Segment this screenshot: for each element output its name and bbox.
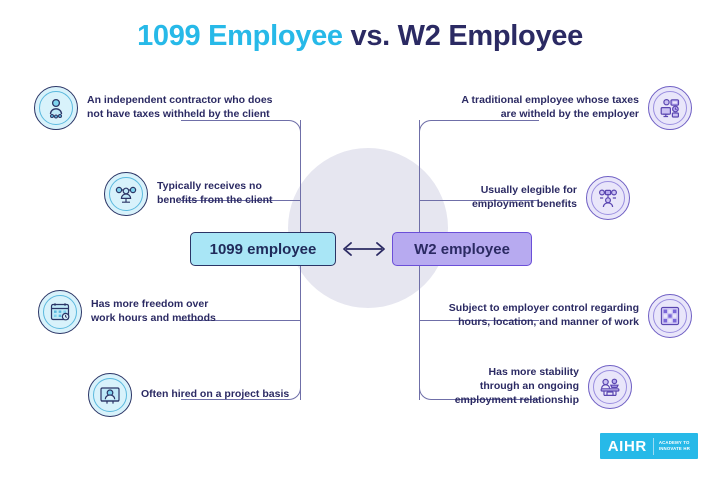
logo-tagline: ACADEMY TO INNOVATE HR — [654, 440, 690, 452]
infographic-canvas: 1099 Employee vs. W2 Employee 1099 emplo… — [0, 0, 720, 477]
list-item-line-1: Often hired on a project basis — [141, 388, 289, 402]
title-part-1099: 1099 Employee — [137, 20, 350, 52]
list-item[interactable]: Typically receives no benefits from the … — [104, 172, 273, 216]
list-item[interactable]: Has more freedom over work hours and met… — [38, 290, 216, 334]
list-item-text: Has more stability through an ongoing em… — [455, 366, 588, 408]
list-item-line-3: employment relationship — [455, 394, 579, 408]
list-item[interactable]: Subject to employer control regarding ho… — [449, 294, 692, 338]
network-benefits-icon — [104, 172, 148, 216]
list-item-text: Subject to employer control regarding ho… — [449, 302, 648, 330]
list-item[interactable]: Usually elegible for employment benefits — [472, 176, 630, 220]
list-item-line-1: Has more stability — [455, 366, 579, 380]
calendar-schedule-icon — [38, 290, 82, 334]
list-item-line-1: Has more freedom over — [91, 298, 216, 312]
list-item-text: An independent contractor who does not h… — [78, 94, 273, 122]
list-item-line-2: through an ongoing — [455, 380, 579, 394]
list-item-line-1: Subject to employer control regarding — [449, 302, 639, 316]
page-title: 1099 Employee vs. W2 Employee — [0, 20, 720, 53]
box-1099-employee[interactable]: 1099 employee — [190, 232, 336, 266]
box-w2-label: W2 employee — [414, 241, 510, 258]
stability-office-icon — [588, 365, 632, 409]
list-item[interactable]: Has more stability through an ongoing em… — [455, 365, 632, 409]
list-item-text: A traditional employee whose taxes are w… — [461, 94, 648, 122]
logo-wordmark: AIHR — [608, 438, 653, 455]
right-stub-bottom — [419, 265, 420, 400]
title-part-w2: vs. W2 Employee — [351, 20, 583, 52]
list-item[interactable]: A traditional employee whose taxes are w… — [461, 86, 692, 130]
double-headed-arrow-icon — [336, 232, 392, 266]
box-w2-employee[interactable]: W2 employee — [392, 232, 532, 266]
list-item-line-1: An independent contractor who does — [87, 94, 273, 108]
control-grid-icon — [648, 294, 692, 338]
list-item-line-2: work hours and methods — [91, 312, 216, 326]
list-item-text: Often hired on a project basis — [132, 388, 289, 402]
list-item-line-1: Usually elegible for — [472, 184, 577, 198]
logo-tagline-line-2: INNOVATE HR — [659, 446, 690, 452]
list-item-line-1: A traditional employee whose taxes — [461, 94, 639, 108]
employee-workstation-icon — [648, 86, 692, 130]
list-item-text: Usually elegible for employment benefits — [472, 184, 586, 212]
list-item-text: Has more freedom over work hours and met… — [82, 298, 216, 326]
list-item[interactable]: An independent contractor who does not h… — [34, 86, 273, 130]
right-stub-top — [419, 120, 420, 232]
list-item[interactable]: Often hired on a project basis — [88, 373, 289, 417]
list-item-line-2: are witheld by the employer — [461, 108, 639, 122]
contractor-person-icon — [34, 86, 78, 130]
list-item-text: Typically receives no benefits from the … — [148, 180, 273, 208]
left-stub-bottom — [300, 265, 301, 400]
project-presentation-icon — [88, 373, 132, 417]
list-item-line-2: not have taxes withheld by the client — [87, 108, 273, 122]
benefits-package-icon — [586, 176, 630, 220]
list-item-line-2: hours, location, and manner of work — [449, 316, 639, 330]
aihr-logo[interactable]: AIHR ACADEMY TO INNOVATE HR — [600, 433, 698, 459]
list-item-line-2: employment benefits — [472, 198, 577, 212]
list-item-line-1: Typically receives no — [157, 180, 273, 194]
box-1099-label: 1099 employee — [210, 241, 317, 258]
list-item-line-2: benefits from the client — [157, 194, 273, 208]
left-stub-top — [300, 120, 301, 232]
